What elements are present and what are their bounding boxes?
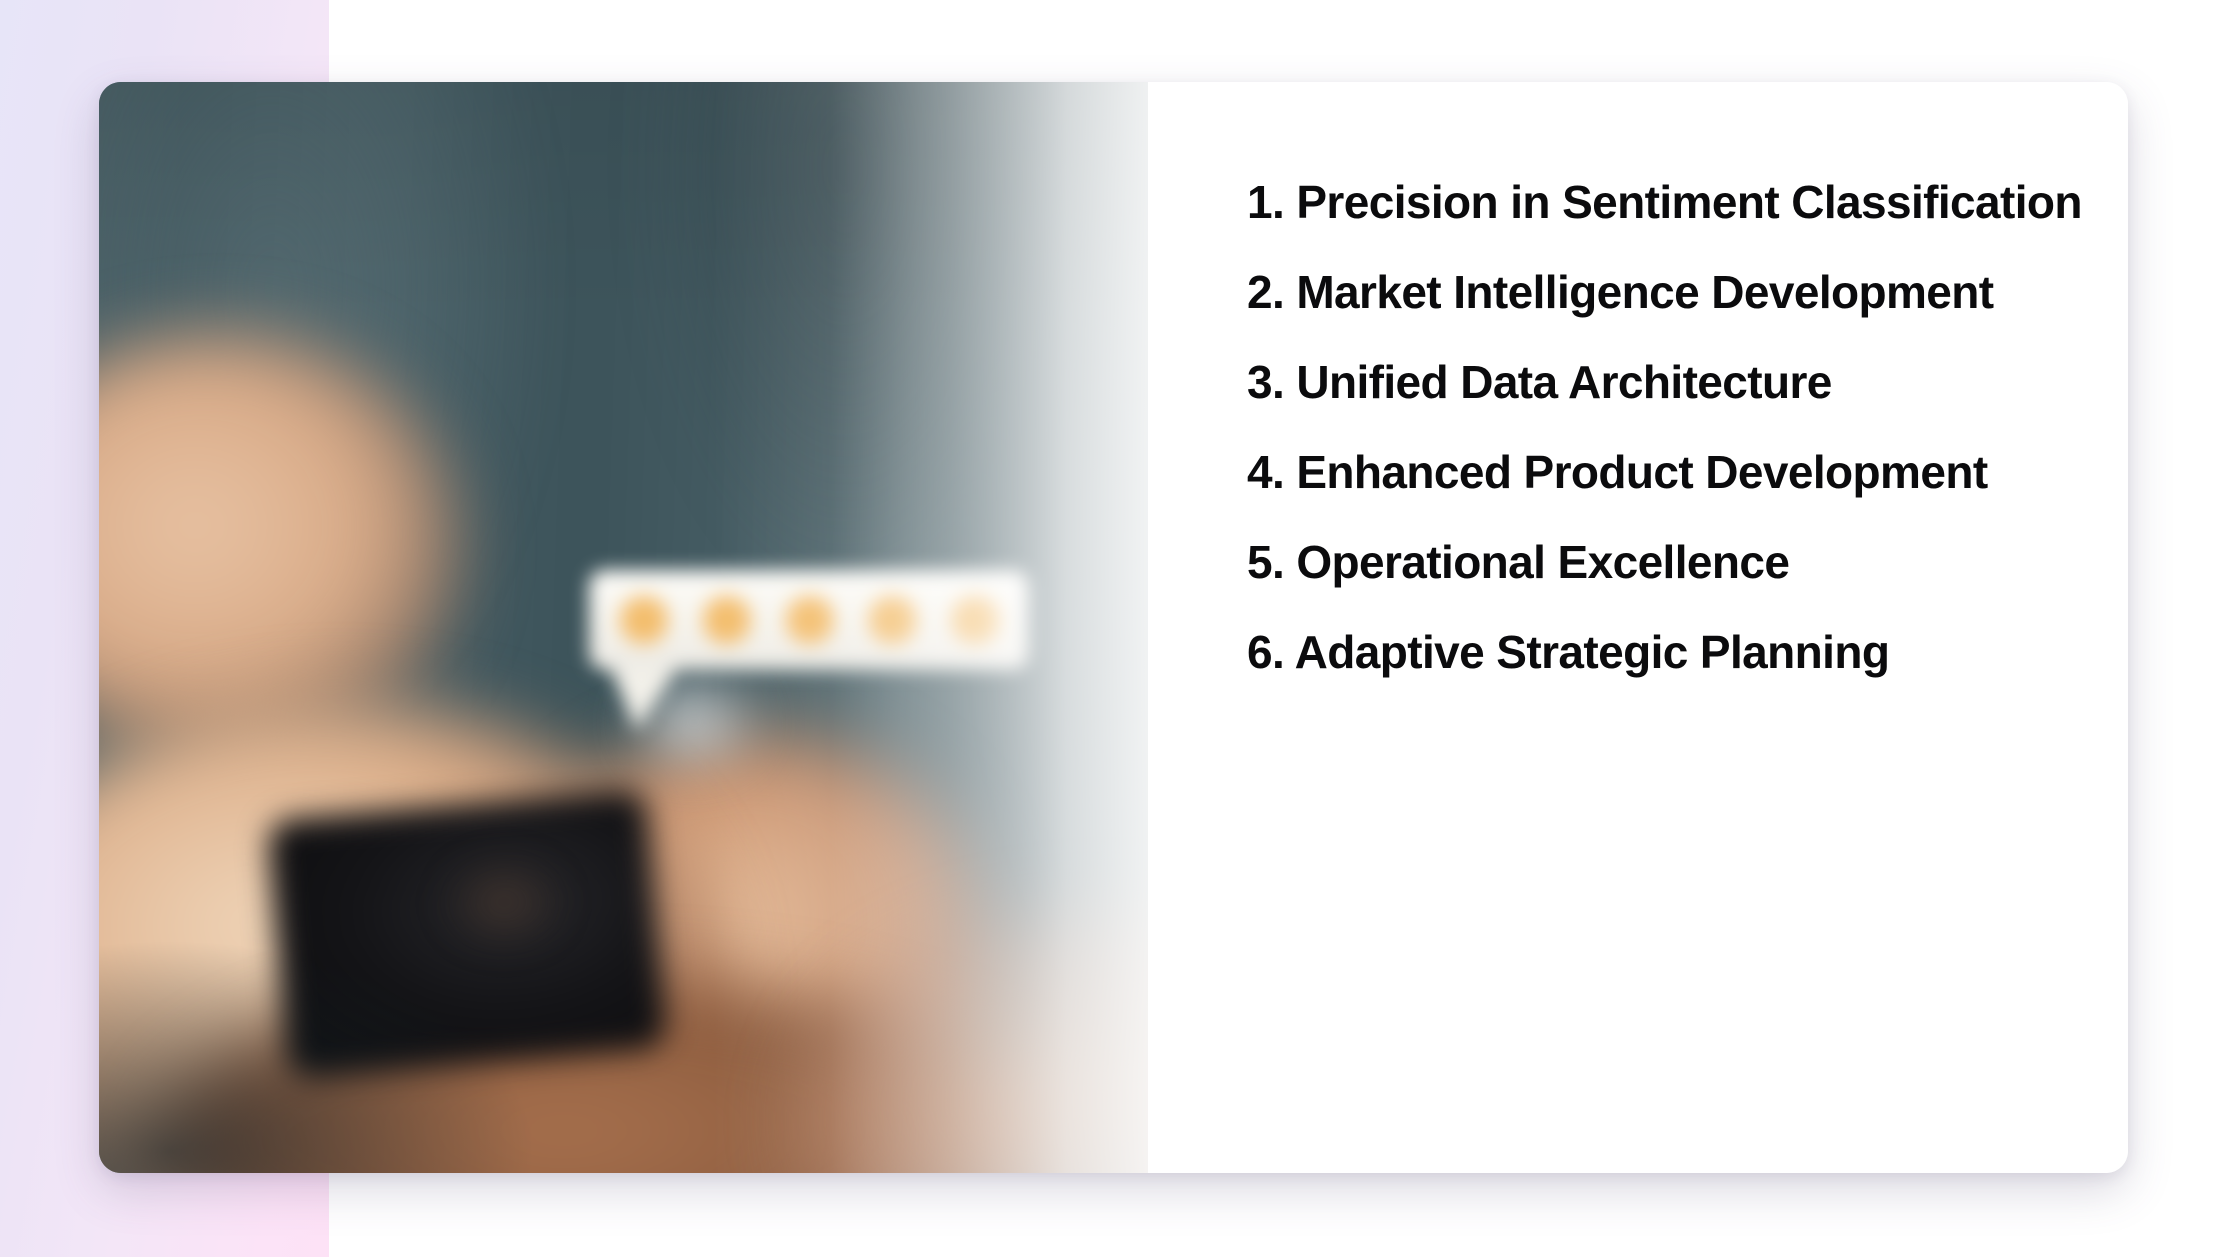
list-item: 3. Unified Data Architecture [1247,356,2127,408]
list-item: 4. Enhanced Product Development [1247,446,2127,498]
list-item: 6. Adaptive Strategic Planning [1247,626,2127,678]
photo-to-white-fade [99,82,1279,1173]
content-card: 1. Precision in Sentiment Classification… [99,82,2128,1173]
list-item: 1. Precision in Sentiment Classification [1247,176,2127,228]
slide-canvas: 1. Precision in Sentiment Classification… [0,0,2225,1257]
list-item: 2. Market Intelligence Development [1247,266,2127,318]
text-panel: 1. Precision in Sentiment Classification… [1148,82,2128,1173]
numbered-list: 1. Precision in Sentiment Classification… [1247,176,2127,678]
list-item: 5. Operational Excellence [1247,536,2127,588]
hero-photo [99,82,1279,1173]
